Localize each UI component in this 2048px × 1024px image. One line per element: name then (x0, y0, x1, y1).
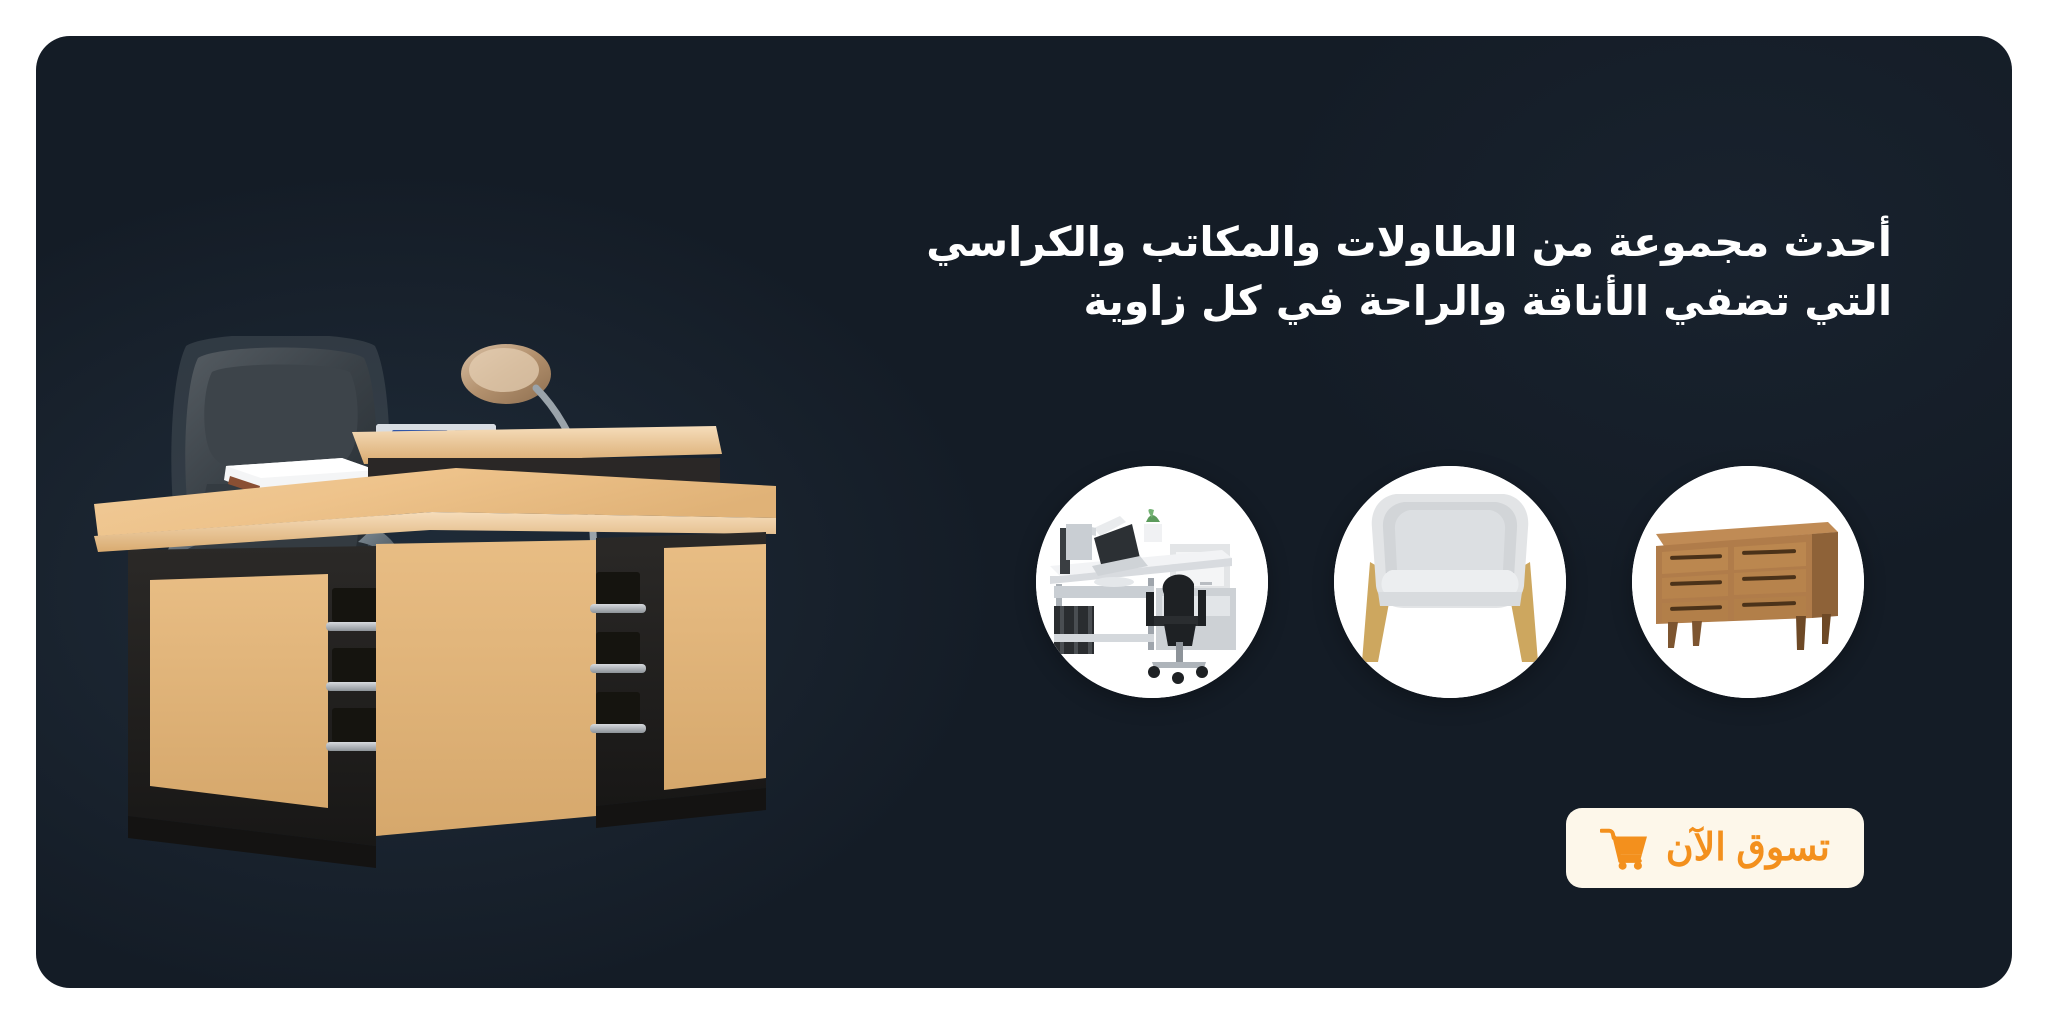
banner-headline: أحدث مجموعة من الطاولات والمكاتب والكراس… (892, 213, 1892, 329)
banner-page: أحدث مجموعة من الطاولات والمكاتب والكراس… (0, 0, 2048, 1024)
thumbnail-armchair[interactable] (1334, 466, 1566, 698)
thumbnail-dresser[interactable] (1632, 466, 1864, 698)
desk-left-pedestal (128, 546, 384, 846)
shop-now-button[interactable]: تسوق الآن (1566, 808, 1864, 888)
shop-now-label: تسوق الآن (1666, 829, 1830, 867)
thumbnail-office-desk[interactable] (1036, 466, 1268, 698)
desk-center-panel (376, 540, 596, 836)
desk-right-pedestal (590, 532, 766, 806)
shopping-cart-icon (1600, 826, 1650, 870)
promo-banner: أحدث مجموعة من الطاولات والمكاتب والكراس… (36, 36, 2012, 988)
hero-desk-image (76, 336, 1016, 976)
product-thumbnail-row (1036, 466, 1864, 698)
